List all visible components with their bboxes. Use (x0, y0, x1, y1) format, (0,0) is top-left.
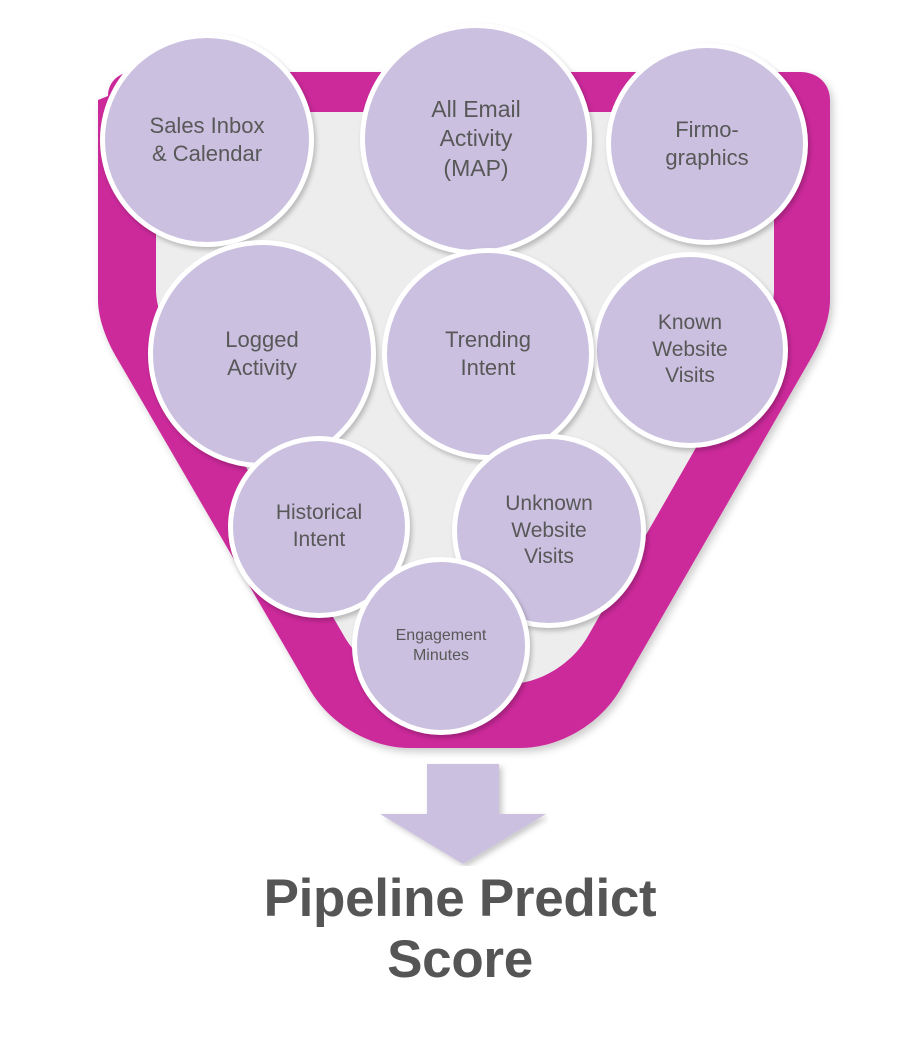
down-arrow-icon (378, 762, 548, 866)
page-title: Pipeline Predict Score (0, 868, 920, 991)
bubble-label: Trending Intent (445, 326, 531, 382)
bubble-all-email-activity[interactable]: All Email Activity (MAP) (360, 23, 592, 255)
bubble-firmographics[interactable]: Firmo- graphics (606, 43, 808, 245)
bubble-label: Firmo- graphics (665, 116, 748, 172)
bubble-sales-inbox-calendar[interactable]: Sales Inbox & Calendar (100, 33, 314, 247)
bubble-label: Engagement Minutes (396, 626, 487, 667)
bubble-label: Unknown Website Visits (505, 491, 593, 572)
bubble-logged-activity[interactable]: Logged Activity (148, 240, 376, 468)
bubble-label: Historical Intent (276, 500, 362, 554)
bubble-known-website-visits[interactable]: Known Website Visits (592, 252, 788, 448)
bubble-engagement-minutes[interactable]: Engagement Minutes (352, 557, 530, 735)
bubble-trending-intent[interactable]: Trending Intent (382, 248, 594, 460)
bubble-label: All Email Activity (MAP) (431, 95, 520, 183)
pipeline-predict-diagram: Sales Inbox & Calendar All Email Activit… (0, 0, 920, 1058)
bubble-label: Logged Activity (225, 326, 298, 382)
bubble-label: Sales Inbox & Calendar (150, 112, 265, 168)
bubble-label: Known Website Visits (652, 310, 727, 391)
